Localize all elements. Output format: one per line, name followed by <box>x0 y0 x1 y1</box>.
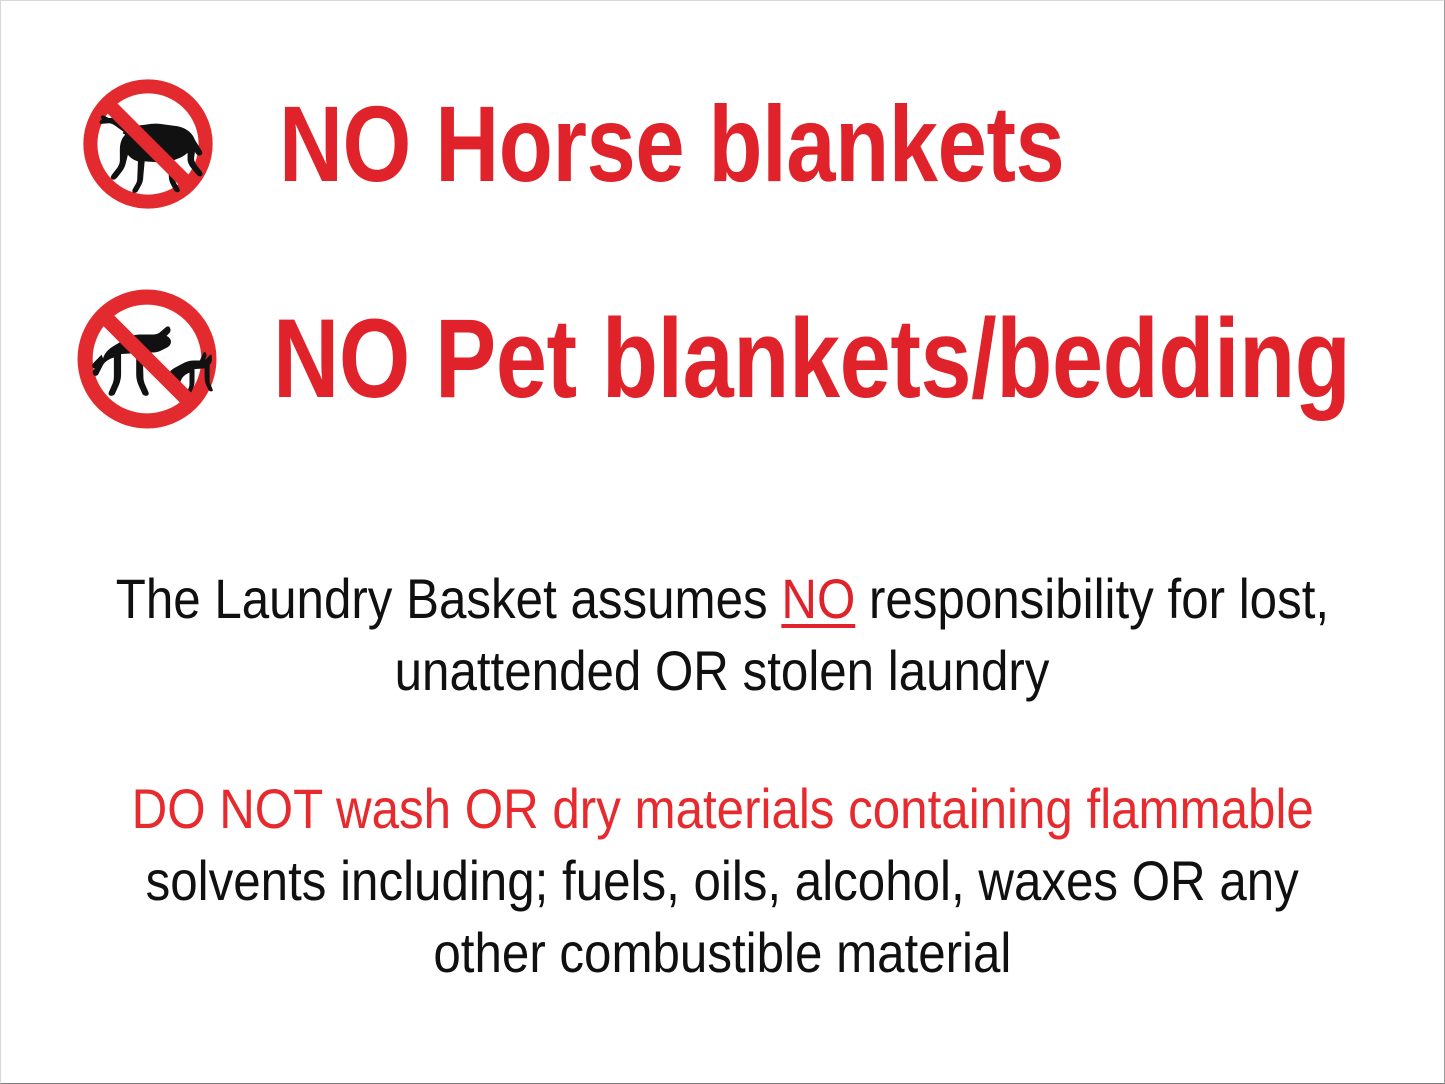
notice-row-horse: NO Horse blankets <box>1 77 1444 211</box>
notice-label-horse: NO Horse blankets <box>279 90 1064 198</box>
liability-line-2: unattended OR stolen laundry <box>395 635 1050 707</box>
flammable-line-2: solvents including; fuels, oils, alcohol… <box>146 845 1299 917</box>
liability-line-1-before: The Laundry Basket assumes <box>116 567 782 630</box>
flammable-line-1: DO NOT wash OR dry materials containing … <box>131 773 1313 845</box>
flammable-warning-paragraph: DO NOT wash OR dry materials containing … <box>1 773 1444 989</box>
liability-line-1-after: responsibility for lost, <box>855 567 1329 630</box>
liability-paragraph: The Laundry Basket assumes NO responsibi… <box>1 563 1444 707</box>
laundry-notice-sign: NO Horse blankets NO Pet blankets/beddin… <box>0 0 1445 1084</box>
liability-emphasis-no: NO <box>781 567 855 630</box>
liability-line-1: The Laundry Basket assumes NO responsibi… <box>116 563 1329 635</box>
notice-label-pets: NO Pet blankets/bedding <box>273 303 1350 415</box>
flammable-line-3: other combustible material <box>434 917 1012 989</box>
no-horse-icon <box>81 77 215 211</box>
notice-row-pets: NO Pet blankets/bedding <box>1 287 1444 431</box>
no-pets-icon <box>75 287 219 431</box>
